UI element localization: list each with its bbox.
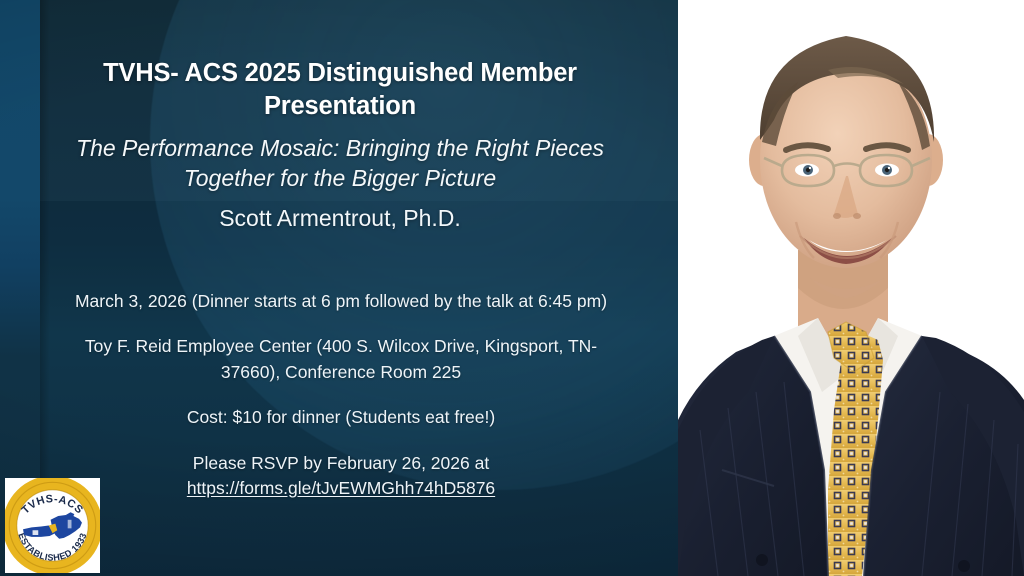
tvhs-acs-logo-plate: TVHS-ACS ESTABLISHED 1933 bbox=[5, 478, 100, 573]
speaker-photo-panel bbox=[678, 0, 1024, 576]
presentation-slide: TVHS- ACS 2025 Distinguished Member Pres… bbox=[0, 0, 1024, 576]
speaker-name: Scott Armentrout, Ph.D. bbox=[52, 204, 628, 233]
event-rsvp: Please RSVP by February 26, 2026 at http… bbox=[58, 451, 624, 502]
speaker-headshot-image bbox=[678, 0, 1024, 576]
event-cost: Cost: $10 for dinner (Students eat free!… bbox=[58, 405, 624, 430]
tvhs-acs-seal-icon: TVHS-ACS ESTABLISHED 1933 bbox=[5, 478, 100, 573]
rsvp-link[interactable]: https://forms.gle/tJvEWMGhh74hD5876 bbox=[187, 478, 495, 498]
slide-subtitle: The Performance Mosaic: Bringing the Rig… bbox=[52, 133, 628, 194]
event-date-time: March 3, 2026 (Dinner starts at 6 pm fol… bbox=[58, 289, 624, 314]
text-content-panel: TVHS- ACS 2025 Distinguished Member Pres… bbox=[0, 0, 678, 576]
event-details: March 3, 2026 (Dinner starts at 6 pm fol… bbox=[58, 289, 624, 501]
slide-title: TVHS- ACS 2025 Distinguished Member Pres… bbox=[52, 57, 628, 122]
event-location: Toy F. Reid Employee Center (400 S. Wilc… bbox=[58, 334, 624, 385]
rsvp-label: Please RSVP by February 26, 2026 at bbox=[193, 453, 489, 473]
